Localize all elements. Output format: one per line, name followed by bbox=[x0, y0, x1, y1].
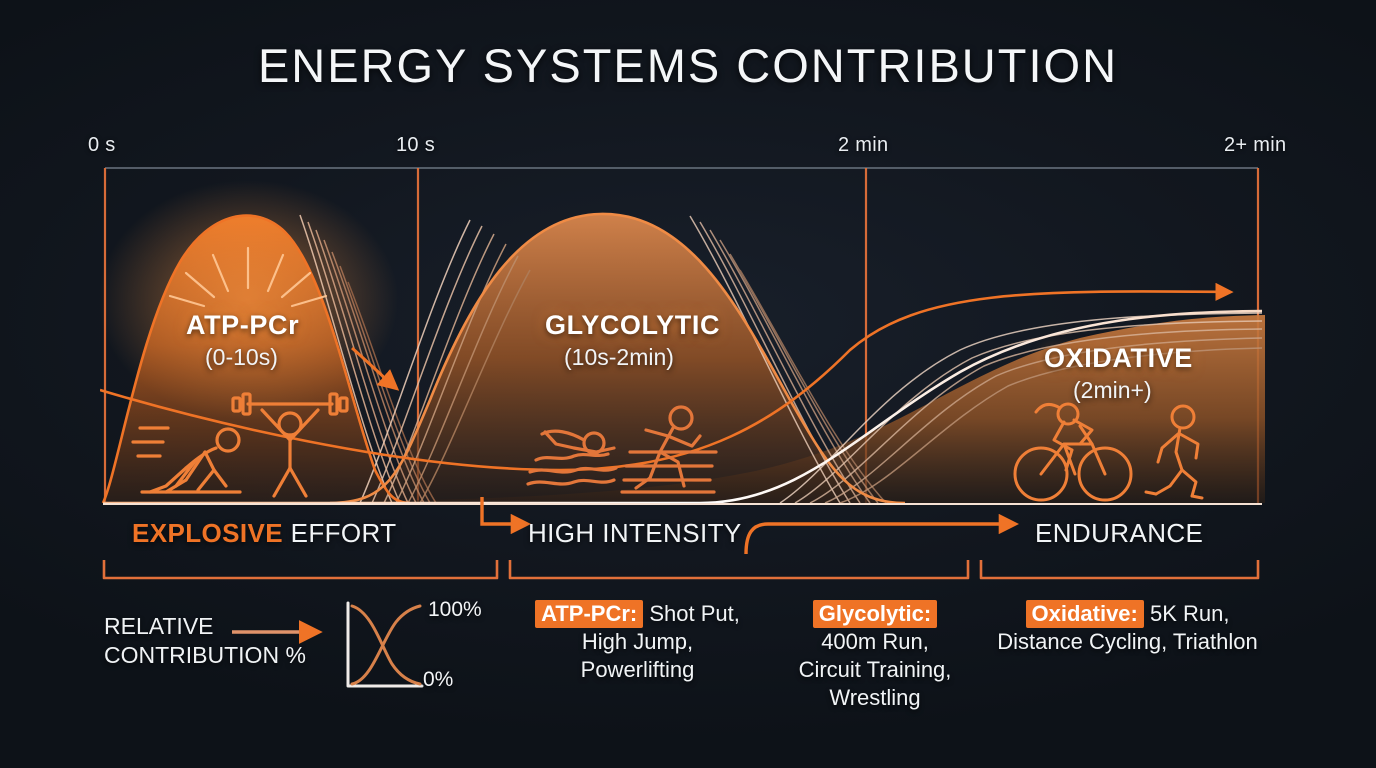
effort-rest-explosive: EFFORT bbox=[283, 518, 397, 548]
effort-label-explosive: EXPLOSIVE EFFORT bbox=[132, 518, 397, 549]
axis-tick-2plusmin: 2+ min bbox=[1224, 134, 1286, 157]
page-title: ENERGY SYSTEMS CONTRIBUTION bbox=[0, 38, 1376, 93]
zone-duration-atp-pcr: (0-10s) bbox=[205, 344, 278, 371]
zone-brackets bbox=[104, 560, 1258, 578]
axis-tick-2min: 2 min bbox=[838, 134, 888, 157]
zone-duration-glycolytic: (10s-2min) bbox=[564, 344, 674, 371]
axis-tick-0s: 0 s bbox=[88, 134, 116, 157]
example-tag-oxidative: Oxidative: bbox=[1026, 600, 1144, 628]
bracket-glycolytic bbox=[510, 560, 968, 578]
example-glycolytic: Glycolytic: 400m Run, Circuit Training, … bbox=[789, 600, 961, 712]
zone-label-oxidative: OXIDATIVE bbox=[1044, 343, 1193, 374]
legend-value-top: 100% bbox=[428, 598, 482, 622]
legend-label-line1: RELATIVE bbox=[104, 612, 284, 641]
legend-mini-chart bbox=[348, 603, 422, 686]
connector-arrow-high-to-endurance bbox=[746, 524, 1015, 554]
zone-label-glycolytic: GLYCOLYTIC bbox=[545, 310, 720, 341]
effort-label-high-intensity: HIGH INTENSITY bbox=[528, 518, 742, 549]
legend-label-line2: CONTRIBUTION % bbox=[104, 641, 284, 670]
example-text-glycolytic: 400m Run, Circuit Training, Wrestling bbox=[799, 629, 952, 710]
example-tag-glycolytic: Glycolytic: bbox=[813, 600, 937, 628]
example-tag-atp-pcr: ATP-PCr: bbox=[535, 600, 643, 628]
legend-value-bottom: 0% bbox=[423, 668, 453, 692]
legend-label: RELATIVE CONTRIBUTION % bbox=[104, 612, 284, 670]
effort-highlight-explosive: EXPLOSIVE bbox=[132, 518, 283, 548]
bracket-atp-pcr bbox=[104, 560, 497, 578]
example-atp-pcr: ATP-PCr: Shot Put, High Jump, Powerlifti… bbox=[525, 600, 750, 684]
zone-duration-oxidative: (2min+) bbox=[1073, 377, 1152, 404]
axis-tick-10s: 10 s bbox=[396, 134, 435, 157]
infographic-root: ENERGY SYSTEMS CONTRIBUTION 0 s 10 s 2 m… bbox=[0, 0, 1376, 768]
effort-label-endurance: ENDURANCE bbox=[1035, 518, 1203, 549]
example-oxidative: Oxidative: 5K Run, Distance Cycling, Tri… bbox=[985, 600, 1270, 656]
bracket-oxidative bbox=[981, 560, 1258, 578]
zone-label-atp-pcr: ATP-PCr bbox=[186, 310, 299, 341]
